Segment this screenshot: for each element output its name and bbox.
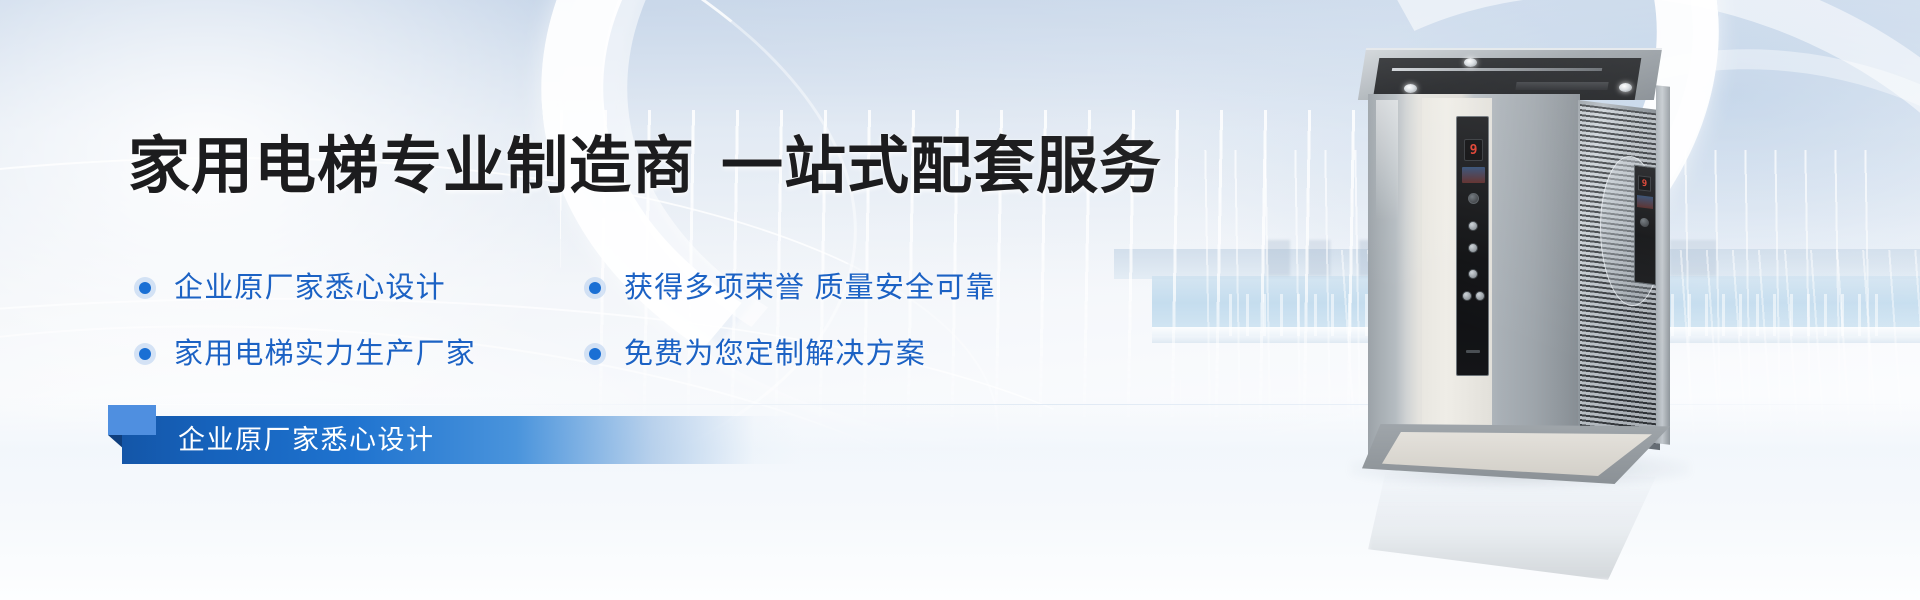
elevator-back-brand-plate xyxy=(1637,195,1653,209)
elevator-ceiling-spotlight xyxy=(1619,83,1632,92)
feature-item-label: 家用电梯实力生产厂家 xyxy=(174,340,476,369)
hero-banner: 9 9 家用电梯专业制造商一站式配套服务 企业原厂家悉心设计 xyxy=(0,0,1920,600)
feature-item-label: 免费为您定制解决方案 xyxy=(624,340,926,369)
ribbon-tab-shape xyxy=(108,405,156,435)
elevator-floor-display: 9 xyxy=(1464,139,1483,161)
elevator-ceiling-vent xyxy=(1515,82,1608,90)
feature-list: 企业原厂家悉心设计 获得多项荣誉 质量安全可靠 家用电梯实力生产厂家 免费为您定… xyxy=(134,255,1144,387)
elevator-call-button xyxy=(1475,291,1485,301)
feature-item-4: 免费为您定制解决方案 xyxy=(584,321,1034,387)
bullet-dot-icon xyxy=(584,277,606,299)
elevator-back-floor-number: 9 xyxy=(1638,175,1651,192)
home-elevator-cabin-image: 9 9 xyxy=(1368,48,1668,488)
elevator-door-open-button xyxy=(1468,269,1478,279)
page-title-part-1: 家用电梯专业制造商 xyxy=(128,132,695,201)
elevator-control-panel: 9 xyxy=(1456,116,1489,376)
elevator-ceiling-spotlight xyxy=(1464,58,1477,67)
elevator-wall-highlight xyxy=(1376,100,1398,220)
elevator-card-slot xyxy=(1466,350,1480,353)
bullet-dot-icon xyxy=(134,343,156,365)
elevator-back-alarm-button xyxy=(1640,217,1649,227)
elevator-alarm-button xyxy=(1468,193,1479,204)
highlight-ribbon-label: 企业原厂家悉心设计 xyxy=(178,427,435,454)
elevator-floor-button xyxy=(1468,243,1478,253)
elevator-ceiling-light-strip xyxy=(1392,68,1602,71)
feature-item-label: 企业原厂家悉心设计 xyxy=(174,274,446,303)
banner-content: 家用电梯专业制造商一站式配套服务 企业原厂家悉心设计 获得多项荣誉 质量安全可靠… xyxy=(128,0,1228,600)
bullet-dot-icon xyxy=(584,343,606,365)
highlight-ribbon: 企业原厂家悉心设计 xyxy=(122,416,802,464)
bullet-dot-icon xyxy=(134,277,156,299)
feature-item-2: 获得多项荣誉 质量安全可靠 xyxy=(584,255,1034,321)
page-title-part-2: 一站式配套服务 xyxy=(721,132,1162,201)
elevator-right-frame-post xyxy=(1656,85,1670,444)
elevator-ceiling-spotlight xyxy=(1404,84,1417,93)
feature-item-label: 获得多项荣誉 质量安全可靠 xyxy=(624,274,996,303)
feature-item-1: 企业原厂家悉心设计 xyxy=(134,255,584,321)
elevator-door-close-button xyxy=(1462,291,1472,301)
elevator-brand-plate xyxy=(1462,167,1485,183)
feature-item-3: 家用电梯实力生产厂家 xyxy=(134,321,584,387)
elevator-floor-number: 9 xyxy=(1465,140,1482,160)
elevator-floor-button xyxy=(1468,221,1478,231)
page-title: 家用电梯专业制造商一站式配套服务 xyxy=(128,136,1162,198)
